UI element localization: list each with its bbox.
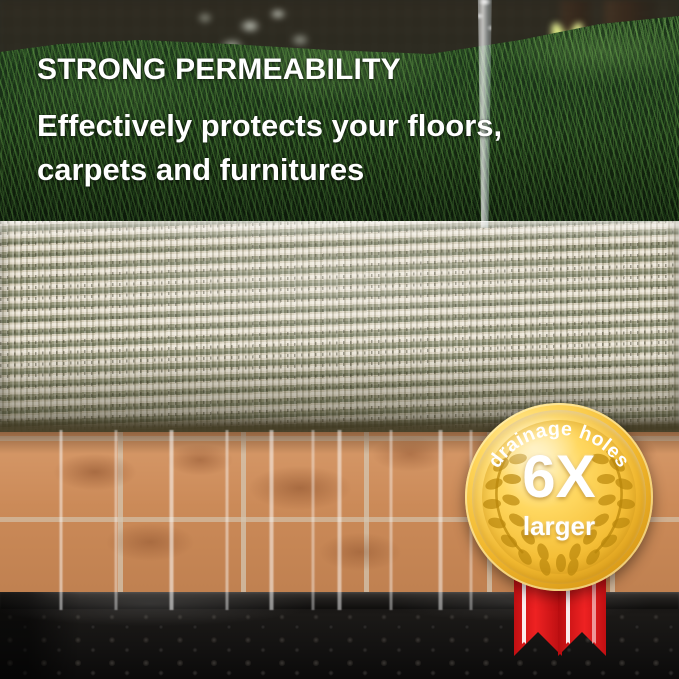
headline-subtitle-line2: carpets and furnitures	[37, 148, 597, 192]
gold-medal: drainage holes 6X larger	[465, 403, 653, 591]
headline-subtitle-line1: Effectively protects your floors,	[37, 104, 597, 148]
badge-multiplier: 6X	[465, 447, 653, 507]
headline-subtitle: Effectively protects your floors, carpet…	[37, 104, 597, 192]
product-marketing-image: STRONG PERMEABILITY Effectively protects…	[0, 0, 679, 679]
page-title: STRONG PERMEABILITY	[37, 54, 597, 86]
award-badge: drainage holes 6X larger	[462, 400, 658, 670]
badge-comparison: larger	[465, 513, 653, 539]
headline-copy: STRONG PERMEABILITY Effectively protects…	[37, 54, 597, 192]
